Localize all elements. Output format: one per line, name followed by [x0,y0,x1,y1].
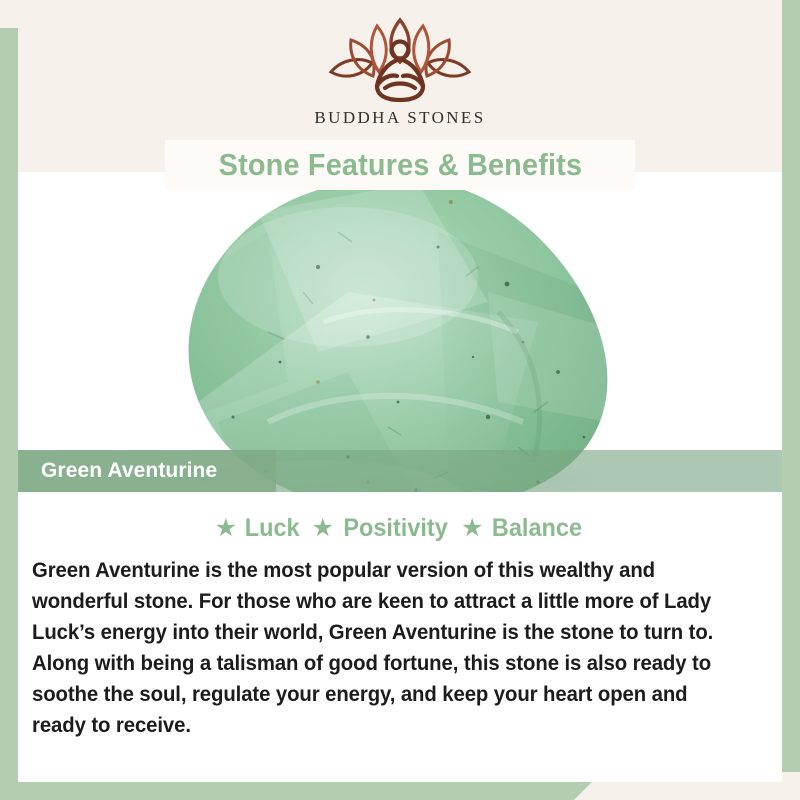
star-icon: ★ [311,516,333,541]
decorative-frame-right [781,0,800,772]
benefits-row: ★ Luck ★ Positivity ★ Balance [18,514,782,543]
stone-photo [18,172,782,492]
decorative-frame-bottom [0,782,592,800]
description-text: Green Aventurine is the most popular ver… [32,555,735,741]
benefit-item-balance: ★ Balance [461,514,585,543]
star-icon: ★ [215,516,237,541]
benefit-item-positivity: ★ Positivity [311,514,451,543]
title-banner: Stone Features & Benefits [165,140,635,190]
lotus-meditating-figure-icon [315,16,485,104]
benefit-label: Positivity [343,514,447,543]
content-card: BUDDHA STONES [18,0,782,782]
benefit-label: Balance [492,514,582,543]
star-icon: ★ [461,516,483,541]
benefit-label: Luck [245,514,300,543]
stone-label: Green Aventurine [41,450,217,492]
description-panel: ★ Luck ★ Positivity ★ Balance Green Aven… [18,492,782,782]
benefit-item-luck: ★ Luck [215,514,302,543]
page-title: Stone Features & Benefits [218,147,582,183]
decorative-frame-left [0,28,18,800]
brand-wordmark: BUDDHA STONES [314,108,485,128]
green-aventurine-illustration [18,172,782,492]
infographic-page: BUDDHA STONES [0,0,800,800]
brand-header: BUDDHA STONES [18,0,782,140]
